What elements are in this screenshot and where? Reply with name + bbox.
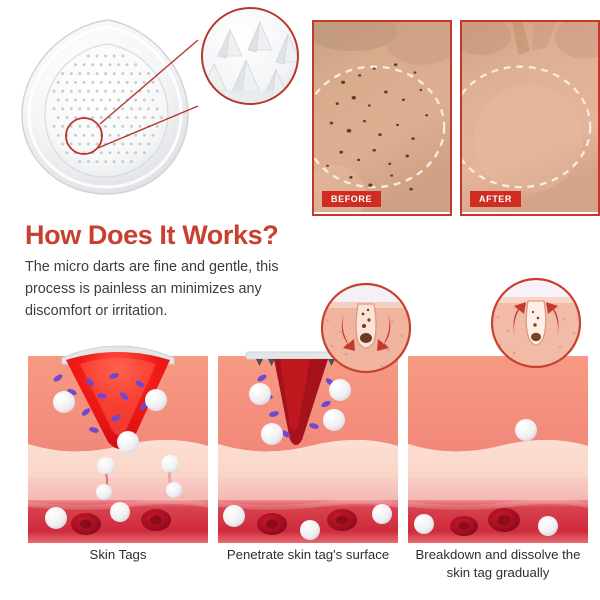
subcutis-layer <box>218 478 398 500</box>
body-paragraph: The micro darts are fine and gentle, thi… <box>25 256 325 322</box>
after-card: AFTER <box>460 20 600 216</box>
product-image-zone <box>0 0 310 215</box>
diagram-row <box>0 326 600 544</box>
micro-darts-magnifier <box>196 4 304 112</box>
after-badge: AFTER <box>470 191 521 207</box>
skin-diagram-1 <box>28 338 208 543</box>
subcutis-layer <box>408 478 588 500</box>
step-panel-1 <box>28 338 208 543</box>
caption-row: Skin Tags Penetrate skin tag's surface B… <box>0 546 600 594</box>
infographic-root: BEFORE <box>0 0 600 600</box>
before-photo <box>314 22 450 212</box>
white-cells-3 <box>515 419 537 441</box>
step-caption-3: Breakdown and dissolve the skin tag grad… <box>405 546 591 582</box>
after-photo <box>462 22 598 212</box>
pore-magnifier-2 <box>318 280 414 376</box>
before-after-zone: BEFORE <box>312 20 600 216</box>
before-badge: BEFORE <box>322 191 381 207</box>
silicone-patch <box>12 14 202 204</box>
patch-illustration <box>12 14 202 204</box>
step-caption-1: Skin Tags <box>25 546 211 564</box>
step-caption-2: Penetrate skin tag's surface <box>215 546 401 564</box>
before-card: BEFORE <box>312 20 452 216</box>
pore-magnifier-3 <box>488 275 584 371</box>
page-title: How Does It Works? <box>25 220 278 251</box>
